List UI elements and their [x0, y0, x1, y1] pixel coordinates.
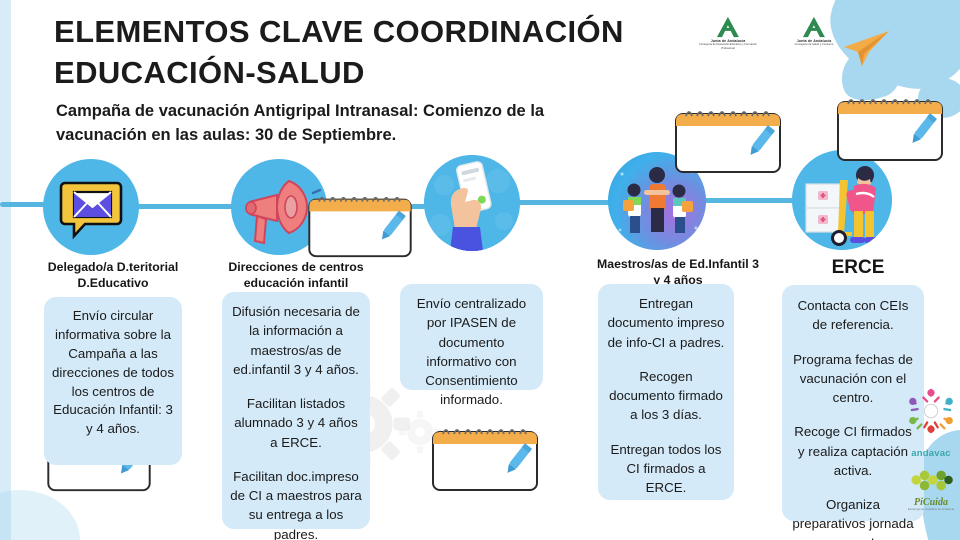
- step-1-paragraph-1: Envío circular informativa sobre la Camp…: [51, 307, 175, 439]
- notepad-pencil-illustration: [300, 186, 420, 264]
- step-4-paragraph-1: Entregan documento impreso de info-CI a …: [605, 294, 727, 352]
- hand-smartphone-icon: [424, 155, 520, 251]
- envelope-message-icon: [43, 159, 139, 255]
- timeline-segment-4: [698, 198, 800, 203]
- junta-andalucia-a-icon: [711, 16, 745, 38]
- people-circle-logo: [903, 388, 959, 439]
- timeline-segment-start: [0, 202, 48, 207]
- step-2-content-card: Difusión necesaria de la información a m…: [222, 292, 370, 529]
- picuida-wordmark: PiCuida: [903, 497, 959, 508]
- step-5-paragraph-3: Recoge CI firmados y realiza captación a…: [790, 422, 916, 480]
- timeline-segment-3: [512, 200, 616, 205]
- picuida-logo: PiCuida Estrategia de Cuidados de Andalu…: [903, 468, 959, 511]
- picuida-tagline: Estrategia de Cuidados de Andalucía: [903, 508, 959, 511]
- people-circle-icon: [906, 388, 956, 434]
- paper-plane-icon: [842, 28, 890, 68]
- step-5-paragraph-4: Organiza preparativos jornada vacunal.: [790, 495, 916, 540]
- left-edge-stripe: [0, 0, 11, 540]
- junta-andalucia-logo-health: Junta de Andalucía Consejería de Salud y…: [780, 16, 848, 50]
- infographic-canvas: ELEMENTOS CLAVE COORDINACIÓN EDUCACIÓN-S…: [0, 0, 960, 540]
- step-1-content-card: Envío circular informativa sobre la Camp…: [44, 297, 182, 465]
- timeline-segment-1: [133, 204, 239, 209]
- junta-andalucia-a-icon: [797, 16, 831, 38]
- institutional-logos: Junta de Andalucía Consejería de Desarro…: [694, 16, 848, 50]
- step-3-icon-circle: [424, 155, 520, 251]
- junta-andalucia-logo-education: Junta de Andalucía Consejería de Desarro…: [694, 16, 762, 50]
- step-4-paragraph-2: Recogen documento firmado a los 3 días.: [605, 367, 727, 425]
- step-2-role-label: Direcciones de centros educación infanti…: [208, 259, 384, 292]
- page-subtitle: Campaña de vacunación Antigripal Intrana…: [56, 100, 626, 148]
- step-2-paragraph-1: Difusión necesaria de la información a m…: [230, 302, 362, 379]
- step-5-paragraph-2: Programa fechas de vacunación con el cen…: [790, 350, 916, 408]
- andavac-logo: andavac: [903, 448, 959, 459]
- junta-logo-dept: Consejería de Desarrollo Educativo y For…: [694, 43, 762, 50]
- notepad-pencil-illustration: [828, 88, 952, 168]
- step-3-content-card: Envío centralizado por IPASEN de documen…: [400, 284, 543, 390]
- notepad-pencil-illustration: [422, 418, 548, 498]
- page-title: ELEMENTOS CLAVE COORDINACIÓN EDUCACIÓN-S…: [54, 12, 694, 94]
- notepad-pencil-illustration: [667, 100, 789, 180]
- step-2-paragraph-2: Facilitan listados alumnado 3 y 4 años a…: [230, 394, 362, 452]
- step-5-role-label: ERCE: [782, 255, 934, 280]
- step-1-icon-circle: [43, 159, 139, 255]
- partner-logos: andavac PiCuida Estrategia de Cuidados d…: [903, 388, 959, 520]
- step-4-content-card: Entregan documento impreso de info-CI a …: [598, 284, 734, 500]
- step-1-role-label: Delegado/a D.teritorial D.Educativo: [20, 259, 206, 292]
- step-5-paragraph-1: Contacta con CEIs de referencia.: [790, 296, 916, 335]
- junta-logo-dept: Consejería de Salud y Consumo: [780, 43, 848, 46]
- step-4-paragraph-3: Entregan todos los CI firmados a ERCE.: [605, 440, 727, 498]
- step-3-paragraph-1: Envío centralizado por IPASEN de documen…: [408, 294, 535, 410]
- picuida-dots-icon: [906, 468, 956, 492]
- step-2-paragraph-3: Facilitan doc.impreso de CI a maestros p…: [230, 467, 362, 540]
